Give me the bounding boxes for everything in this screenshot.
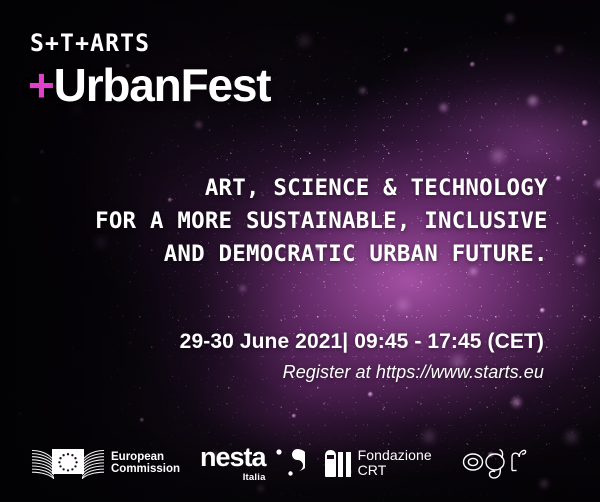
crt-label-line-1: Fondazione <box>358 448 432 464</box>
ec-fan-right-icon <box>82 446 104 479</box>
nesta-wordmark: nesta <box>200 444 266 471</box>
crt-bar-1 <box>338 452 343 477</box>
urbanfest-title: +UrbanFest <box>28 58 270 112</box>
eu-stars-icon <box>52 449 84 474</box>
starts-program-wordmark: S+T+ARTS <box>30 29 150 57</box>
crt-bar-2 <box>346 452 351 477</box>
european-commission-label: European Commission <box>111 451 180 476</box>
sponsor-logo-bar: European Commission nesta Italia <box>0 430 600 496</box>
logo-ogr[interactable] <box>462 445 528 481</box>
nesta-italia-label: Italia <box>200 472 266 483</box>
logo-nesta-italia[interactable]: nesta Italia <box>200 444 305 483</box>
ogr-wordmark-icon <box>462 445 528 481</box>
tagline-block: ART, SCIENCE & TECHNOLOGY FOR A MORE SUS… <box>95 172 548 271</box>
nesta-circle-icon <box>275 446 305 480</box>
ec-label-line-2: Commission <box>111 463 180 476</box>
european-commission-emblem <box>32 446 104 480</box>
logo-european-commission[interactable]: European Commission <box>32 446 180 480</box>
ec-label-line-1: European <box>111 451 180 464</box>
event-datetime: 29-30 June 2021| 09:45 - 17:45 (CET) <box>180 330 544 354</box>
fondazione-crt-emblem <box>325 450 351 477</box>
poster-canvas: S+T+ARTS +UrbanFest ART, SCIENCE & TECHN… <box>0 0 600 502</box>
tagline-line-3: AND DEMOCRATIC URBAN FUTURE. <box>95 238 548 271</box>
tagline-line-1: ART, SCIENCE & TECHNOLOGY <box>95 172 548 205</box>
urbanfest-plus-glyph: + <box>28 59 54 111</box>
fondazione-crt-label: Fondazione CRT <box>358 448 432 479</box>
registration-url[interactable]: Register at https://www.starts.eu <box>283 362 544 383</box>
urbanfest-word: UrbanFest <box>54 59 271 111</box>
tagline-line-2: FOR A MORE SUSTAINABLE, INCLUSIVE <box>95 205 548 238</box>
crt-bottle-shape <box>325 450 336 477</box>
nesta-wordmark-stack: nesta Italia <box>200 444 266 483</box>
ec-fan-left-icon <box>32 446 54 479</box>
crt-label-line-2: CRT <box>358 463 432 479</box>
logo-fondazione-crt[interactable]: Fondazione CRT <box>325 448 432 479</box>
